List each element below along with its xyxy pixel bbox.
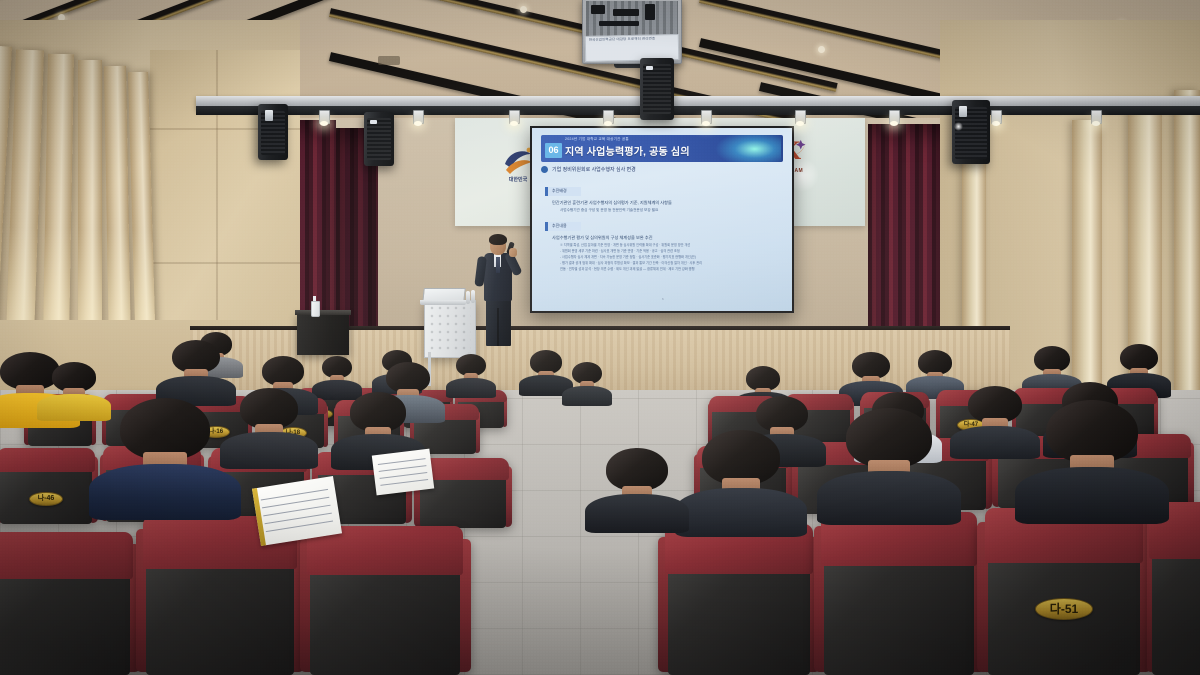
stage-spotlight — [794, 110, 805, 128]
stage-spotlight — [888, 110, 899, 128]
presenter-laptop[interactable] — [420, 288, 466, 305]
seat[interactable] — [668, 528, 810, 675]
slide-bullet: 사업수행기관 중심 구성 및 운영 등 전문인력 기술전문성 보강 필요 — [560, 208, 783, 213]
slide-surface: 06 2024년 기업 대학교 교육 대상기관 공통 지역 사업능력평가, 공동… — [532, 128, 792, 311]
seat[interactable] — [824, 516, 974, 675]
slide-bullet: - 평가 결과 공개 범위 확대 · 심사 과정의 투명성 확보 · 결과 통보… — [560, 261, 783, 266]
stage-spotlight — [1090, 110, 1101, 128]
slide-title-bar: 06 2024년 기업 대학교 교육 대상기관 공통 지역 사업능력평가, 공동… — [541, 135, 783, 162]
slide-globe-graphic — [715, 135, 781, 162]
attendee — [350, 392, 406, 456]
slide-kicker: 2024년 기업 대학교 교육 대상기관 공통 — [565, 137, 629, 142]
attendee-torso — [37, 394, 111, 421]
hand-sanitizer-bottle — [311, 296, 318, 315]
slide-bullet: 사업수행기관 평가 및 심의위원의 구성 체계성을 보완 추진 — [552, 235, 783, 241]
attendee — [572, 362, 602, 398]
seat[interactable] — [420, 462, 506, 528]
lectern — [424, 300, 476, 358]
attendee-torso — [675, 488, 806, 537]
attendee-torso — [446, 378, 496, 398]
printed-handout[interactable] — [372, 449, 434, 496]
attendee — [968, 386, 1022, 446]
presenter-tie — [496, 257, 500, 273]
presenter-legs — [486, 298, 511, 346]
attendee — [52, 362, 96, 410]
stage-spotlight — [602, 110, 613, 128]
attendee-torso — [817, 471, 961, 525]
slide-number-badge: 06 — [545, 143, 562, 158]
stage-spotlight — [318, 110, 329, 128]
slide-bullet: - 사업수행자 심사 체계 개편 · 지속 가능한 운영 기준 정립 · 심사기… — [560, 255, 783, 260]
stage-spotlight — [412, 110, 423, 128]
wall-mounted-speaker-left — [258, 104, 288, 160]
acoustic-fin — [104, 66, 131, 330]
attendee-foreground — [1046, 400, 1138, 502]
attendee-foreground — [120, 398, 210, 498]
presenter-hair — [489, 234, 507, 245]
attendee — [918, 350, 952, 390]
slide-heading: 지역 사업능력평가, 공동 심의 — [565, 143, 690, 158]
attendee-foreground — [846, 408, 932, 504]
slide-body: 기업 정비위원회로 사업수행자 심사 변경 추진배경 민간기관인 훈련기관 사업… — [541, 166, 783, 303]
auditorium-photo: 한국산업인력공단 대강당 프로젝터 관리번호 — [0, 0, 1200, 675]
slide-section-heading: 기업 정비위원회로 사업수행자 심사 변경 — [541, 166, 783, 173]
attendee — [852, 352, 890, 396]
attendee-navy-fleece — [89, 464, 240, 520]
wall-mounted-speaker-right — [952, 100, 990, 164]
attendee — [606, 448, 668, 518]
slide-page-number: 6 — [662, 297, 664, 301]
slide-block-tag: 추진내용 — [545, 222, 581, 231]
desk-microphones — [466, 290, 475, 304]
slide-bullet: - 위원회 운영 세부 기준 마련 · 심사표 개편 등 기준 반영 · 기준 … — [560, 249, 783, 254]
attendee-foreground — [702, 430, 780, 518]
seat-number-plate: 나-46 — [29, 492, 63, 506]
stage-spotlight — [700, 110, 711, 128]
attendee — [240, 388, 298, 454]
acoustic-fin — [78, 60, 102, 332]
attendee — [456, 354, 486, 390]
seat[interactable]: 다-51 — [988, 512, 1140, 675]
projection-screen: 06 2024년 기업 대학교 교육 대상기관 공통 지역 사업능력평가, 공동… — [530, 126, 794, 313]
presenter-hand — [509, 248, 517, 257]
slide-block-tag: 추진배경 — [545, 187, 581, 196]
seat-number-plate: 다-51 — [1035, 598, 1093, 620]
attendee-torso — [585, 494, 689, 533]
slide-bullet: 연동 · 연차별 성과 분석 · 현장 의견 수렴 · 제도 개선 과제 발굴 … — [560, 267, 783, 272]
attendee-torso — [1015, 467, 1170, 524]
stage-spotlight — [990, 110, 1001, 128]
wall-pillar — [1174, 90, 1200, 440]
seat[interactable] — [310, 530, 460, 675]
attendee-torso — [562, 386, 612, 406]
svg-text:대한민국: 대한민국 — [509, 176, 528, 183]
lighting-truss-bar — [196, 106, 1200, 115]
seat[interactable]: 나-46 — [0, 452, 92, 524]
ceiling-hung-speaker — [364, 112, 394, 166]
stage-spotlight — [508, 110, 519, 128]
attendee — [322, 356, 352, 392]
attendee-torso — [950, 426, 1041, 460]
projector: 한국산업인력공단 대강당 프로젝터 관리번호 — [582, 0, 682, 64]
presenter — [476, 236, 522, 346]
attendee-torso — [220, 432, 317, 469]
attendee — [530, 350, 562, 388]
slide-bullet: 민간기관인 훈련기관 사업수행자의 심의평가 기준, 지원체계의 사항들 — [552, 200, 783, 206]
seat[interactable] — [0, 536, 130, 675]
ceiling-hung-speaker — [640, 58, 674, 120]
attendee — [1120, 344, 1158, 388]
seat[interactable] — [1152, 506, 1200, 675]
attendee — [172, 340, 220, 394]
slide-bullet: ① 지역별 특성, 산업 분야별 기준 반영 · 개편 등 심사위원 인력풀 확… — [560, 243, 783, 248]
side-table — [297, 313, 349, 355]
